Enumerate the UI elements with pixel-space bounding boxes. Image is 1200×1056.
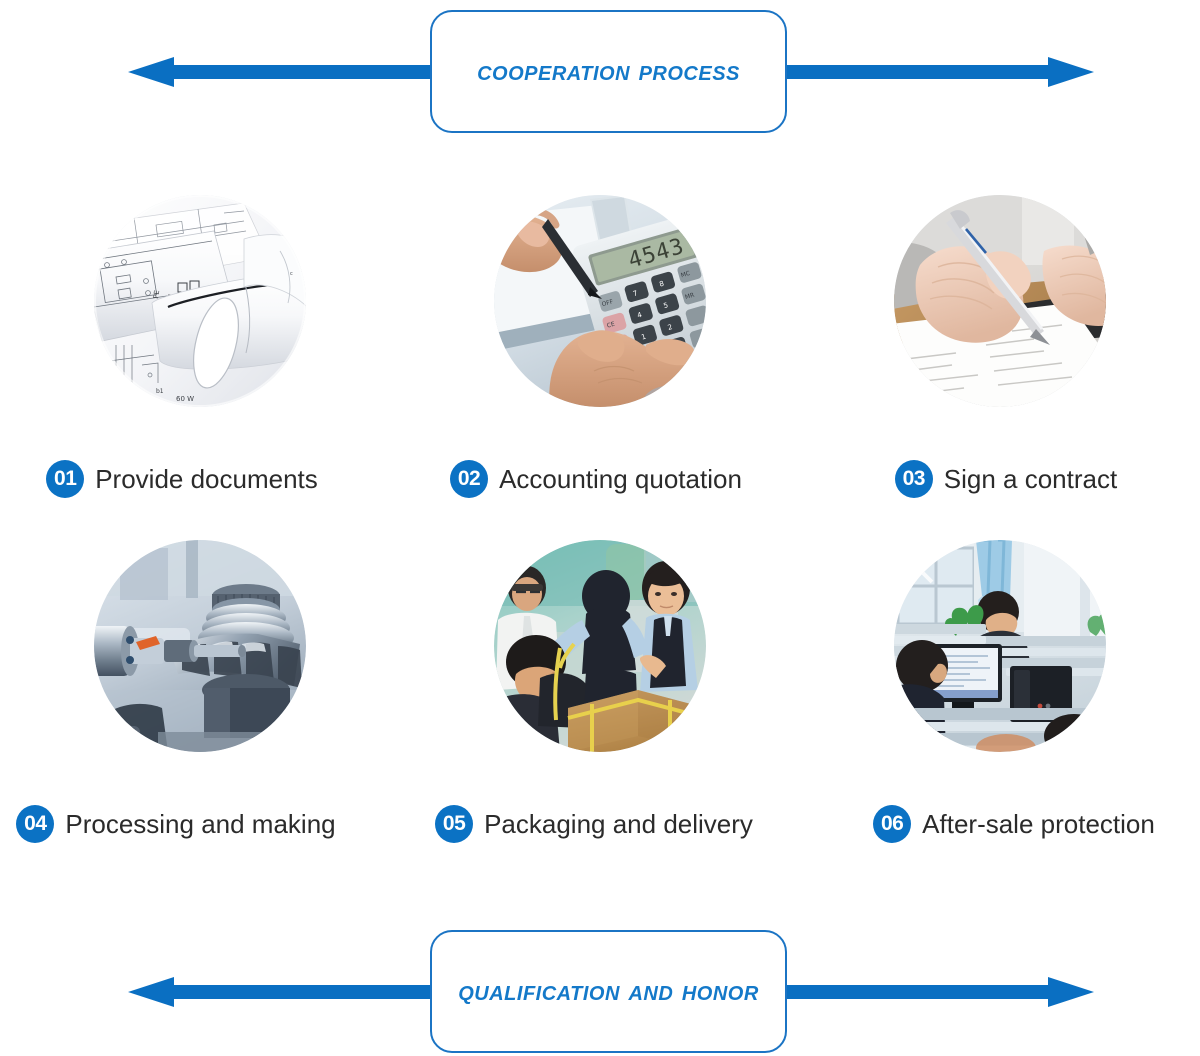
step-number-badge: 06 xyxy=(873,805,911,843)
process-step-caption: 05 Packaging and delivery xyxy=(394,803,794,845)
cooperation-process-banner: Cooperation process xyxy=(0,10,1200,134)
qualification-and-honor-title-box: Qualification and honor xyxy=(430,930,787,1053)
rolled-blueprints-photo: PE N xyxy=(94,195,306,407)
step-number-badge: 02 xyxy=(450,460,488,498)
step-label: Packaging and delivery xyxy=(484,811,753,837)
process-step-02[interactable]: 4543 xyxy=(400,178,800,523)
process-step-06[interactable]: 06 After-sale protection xyxy=(800,523,1200,868)
process-step-caption: 01 Provide documents xyxy=(0,458,382,500)
svg-text:PE: PE xyxy=(152,290,161,300)
step-number-badge: 04 xyxy=(16,805,54,843)
step-number-badge: 03 xyxy=(895,460,933,498)
step-number-badge: 05 xyxy=(435,805,473,843)
step-label: Processing and making xyxy=(65,811,335,837)
packaging-workers-photo xyxy=(494,540,706,752)
qualification-and-honor-title: Qualification and honor xyxy=(458,977,759,1006)
process-step-caption: 06 After-sale protection xyxy=(814,803,1200,845)
process-step-caption: 02 Accounting quotation xyxy=(396,458,796,500)
step-label: Provide documents xyxy=(95,466,318,492)
process-step-03[interactable]: 03 Sign a contract xyxy=(800,178,1200,523)
process-steps: PE N xyxy=(0,178,1200,878)
process-steps-row-1: PE N xyxy=(0,178,1200,523)
process-step-caption: 03 Sign a contract xyxy=(806,458,1200,500)
step-label: Sign a contract xyxy=(944,466,1117,492)
calculator-hands-photo: 4543 xyxy=(494,195,706,407)
svg-text:c: c xyxy=(290,271,293,277)
qualification-and-honor-banner: Qualification and honor xyxy=(0,930,1200,1054)
process-step-caption: 04 Processing and making xyxy=(0,803,376,845)
step-label: Accounting quotation xyxy=(499,466,742,492)
process-steps-row-2: 04 Processing and making xyxy=(0,523,1200,868)
office-support-photo xyxy=(894,540,1106,752)
step-label: After-sale protection xyxy=(922,811,1155,837)
cooperation-process-title-box: Cooperation process xyxy=(430,10,787,133)
step-number-badge: 01 xyxy=(46,460,84,498)
svg-text:b1: b1 xyxy=(156,388,164,395)
signing-contract-photo xyxy=(894,195,1106,407)
svg-text:60 W: 60 W xyxy=(176,395,194,403)
cooperation-process-title: Cooperation process xyxy=(477,57,740,86)
cnc-machining-photo xyxy=(94,540,306,752)
process-step-01[interactable]: PE N xyxy=(0,178,400,523)
process-step-05[interactable]: 05 Packaging and delivery xyxy=(400,523,800,868)
process-step-04[interactable]: 04 Processing and making xyxy=(0,523,400,868)
